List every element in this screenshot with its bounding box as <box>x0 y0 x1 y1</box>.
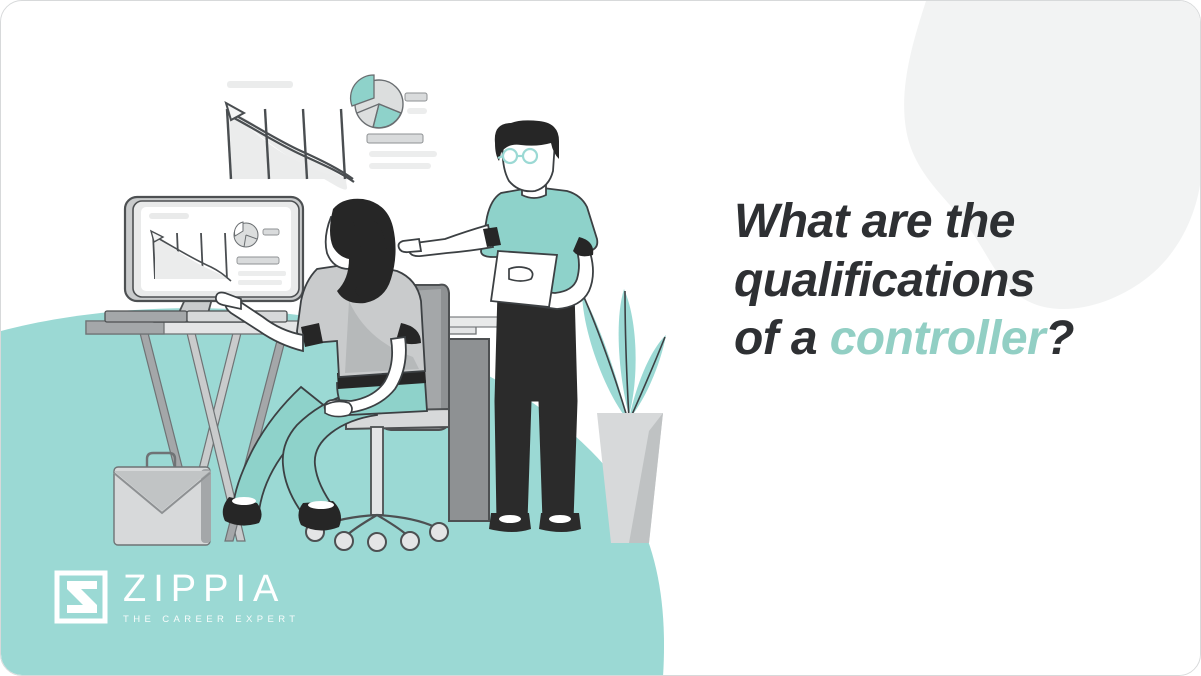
chart-title-placeholder <box>227 81 293 88</box>
headline-line-3-after: ? <box>1045 312 1074 365</box>
chair-caster-2 <box>335 532 353 550</box>
promo-card: What are the qualifications of a control… <box>0 0 1201 676</box>
headline-line-3: of a controller? <box>734 310 1164 369</box>
brand-logo[interactable]: ZIPPIA THE CAREER EXPERT <box>53 569 300 625</box>
pie-legend-chip <box>405 93 427 101</box>
zippia-z-mark-icon <box>53 569 109 625</box>
chair-caster-3 <box>368 533 386 551</box>
logo-text-block: ZIPPIA THE CAREER EXPERT <box>123 570 300 625</box>
briefcase <box>114 453 211 545</box>
headline-keyword-accent: controller <box>830 312 1045 365</box>
logo-wordmark: ZIPPIA <box>123 570 300 608</box>
page-title: What are the qualifications of a control… <box>734 193 1164 369</box>
logo-tagline: THE CAREER EXPERT <box>123 615 300 625</box>
chair-caster-4 <box>401 532 419 550</box>
chair-caster-5 <box>430 523 448 541</box>
headline-line-1: What are the <box>734 193 1164 252</box>
pie-legend-placeholder <box>407 108 427 114</box>
headline-line-2: qualifications <box>734 252 1164 311</box>
headline-line-3-before: of a <box>734 312 830 365</box>
